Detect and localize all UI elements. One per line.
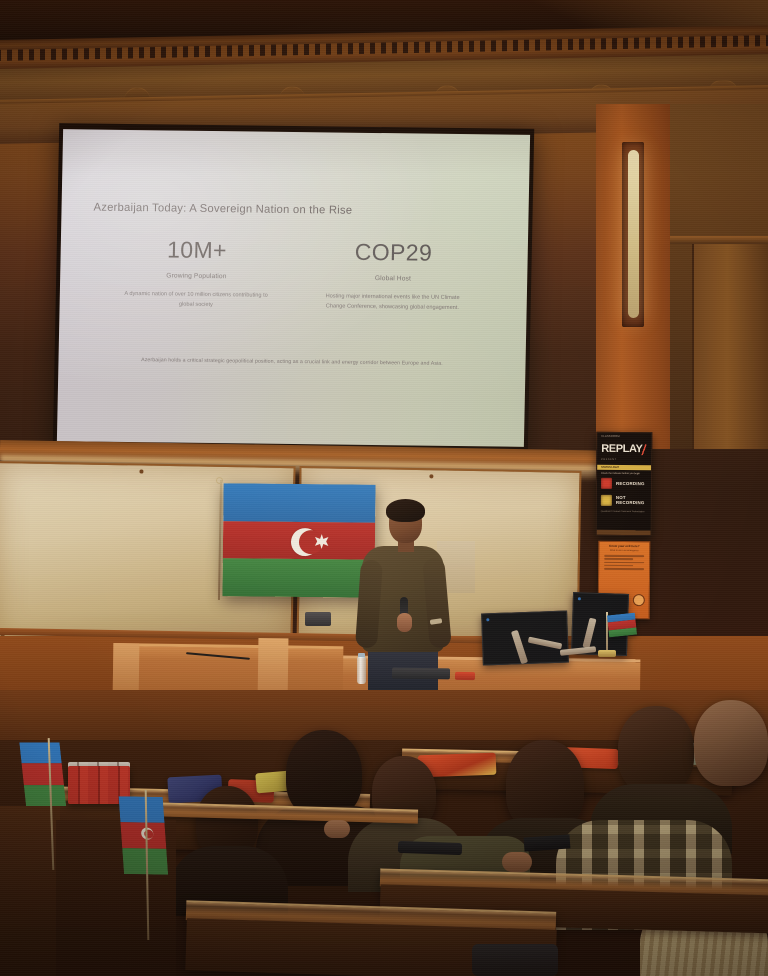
replay-logo: REPLAY (601, 444, 646, 455)
audience-hand-1 (502, 852, 532, 872)
audience-head-5 (618, 706, 694, 794)
presenter-hair (386, 499, 425, 522)
slide-columns: 10M+ Growing Population A dynamic nation… (92, 236, 498, 315)
stat-label-cop29: Global Host (295, 274, 492, 283)
stat-label-population: Growing Population (98, 272, 295, 281)
projection-screen: Azerbaijan Today: A Sovereign Nation on … (57, 129, 530, 447)
audience-hand-2 (324, 820, 350, 838)
crescent-icon (291, 528, 319, 556)
replay-recording-sign: CLASSROOM REPLAY PRESENT STATUS LIGHT Ch… (596, 432, 653, 536)
red-desk-object (455, 672, 475, 680)
replay-logo-text: REPLAY (601, 443, 642, 455)
av-equipment-box (305, 612, 331, 626)
replay-sublogo: PRESENT (601, 458, 647, 461)
right-wall-ledge (670, 236, 768, 244)
flag-band-blue (223, 483, 375, 522)
slide-footnote: Azerbaijan holds a critical strategic ge… (58, 356, 525, 368)
presenter-hand (397, 613, 412, 632)
replay-footer-bar (597, 530, 651, 535)
replay-state-not-recording: NOT RECORDING (597, 492, 651, 509)
azerbaijan-table-flag-1 (19, 742, 66, 806)
azerbaijan-flag-wall (222, 483, 375, 598)
recording-indicator-icon (601, 478, 612, 489)
azerbaijan-desk-flag (607, 613, 637, 638)
stat-population: 10M+ (98, 236, 295, 265)
audience-head-1 (286, 730, 362, 818)
dark-device-foreground[interactable] (472, 944, 558, 976)
desk-flag-base (598, 650, 616, 657)
water-bottle (357, 657, 366, 684)
replay-logo-slash (641, 444, 646, 455)
replay-kicker: CLASSROOM (601, 436, 647, 439)
presentation-slide: Azerbaijan Today: A Sovereign Nation on … (57, 129, 530, 447)
slide-column-cop29: COP29 Global Host Hosting major internat… (294, 238, 492, 314)
audience-head-6-bald (694, 700, 768, 786)
wall-sconce-light (628, 150, 639, 318)
replay-footer-text: Questions? Contact Classroom Technologie… (597, 509, 651, 516)
slide-column-population: 10M+ Growing Population A dynamic nation… (98, 236, 296, 312)
phone-on-desk[interactable] (398, 841, 462, 855)
stat-cop29: COP29 (295, 238, 492, 267)
not-recording-indicator-icon (601, 495, 612, 506)
stat-description-cop29: Hosting major international events like … (294, 291, 491, 314)
poster-badge-icon (633, 594, 645, 606)
replay-state-recording: RECORDING (597, 475, 651, 492)
stat-description-population: A dynamic nation of over 10 million citi… (98, 289, 295, 312)
recording-label: RECORDING (616, 481, 645, 486)
azerbaijan-table-flag-2 (119, 796, 169, 875)
slide-title: Azerbaijan Today: A Sovereign Nation on … (93, 202, 498, 219)
laptop[interactable] (392, 668, 450, 680)
flag-band-green (222, 559, 374, 598)
not-recording-label: NOT RECORDING (616, 495, 647, 505)
lecture-hall-photo: Azerbaijan Today: A Sovereign Nation on … (0, 0, 768, 976)
poster-subheading: What to do in an emergency (599, 549, 649, 553)
side-door[interactable] (692, 244, 768, 449)
